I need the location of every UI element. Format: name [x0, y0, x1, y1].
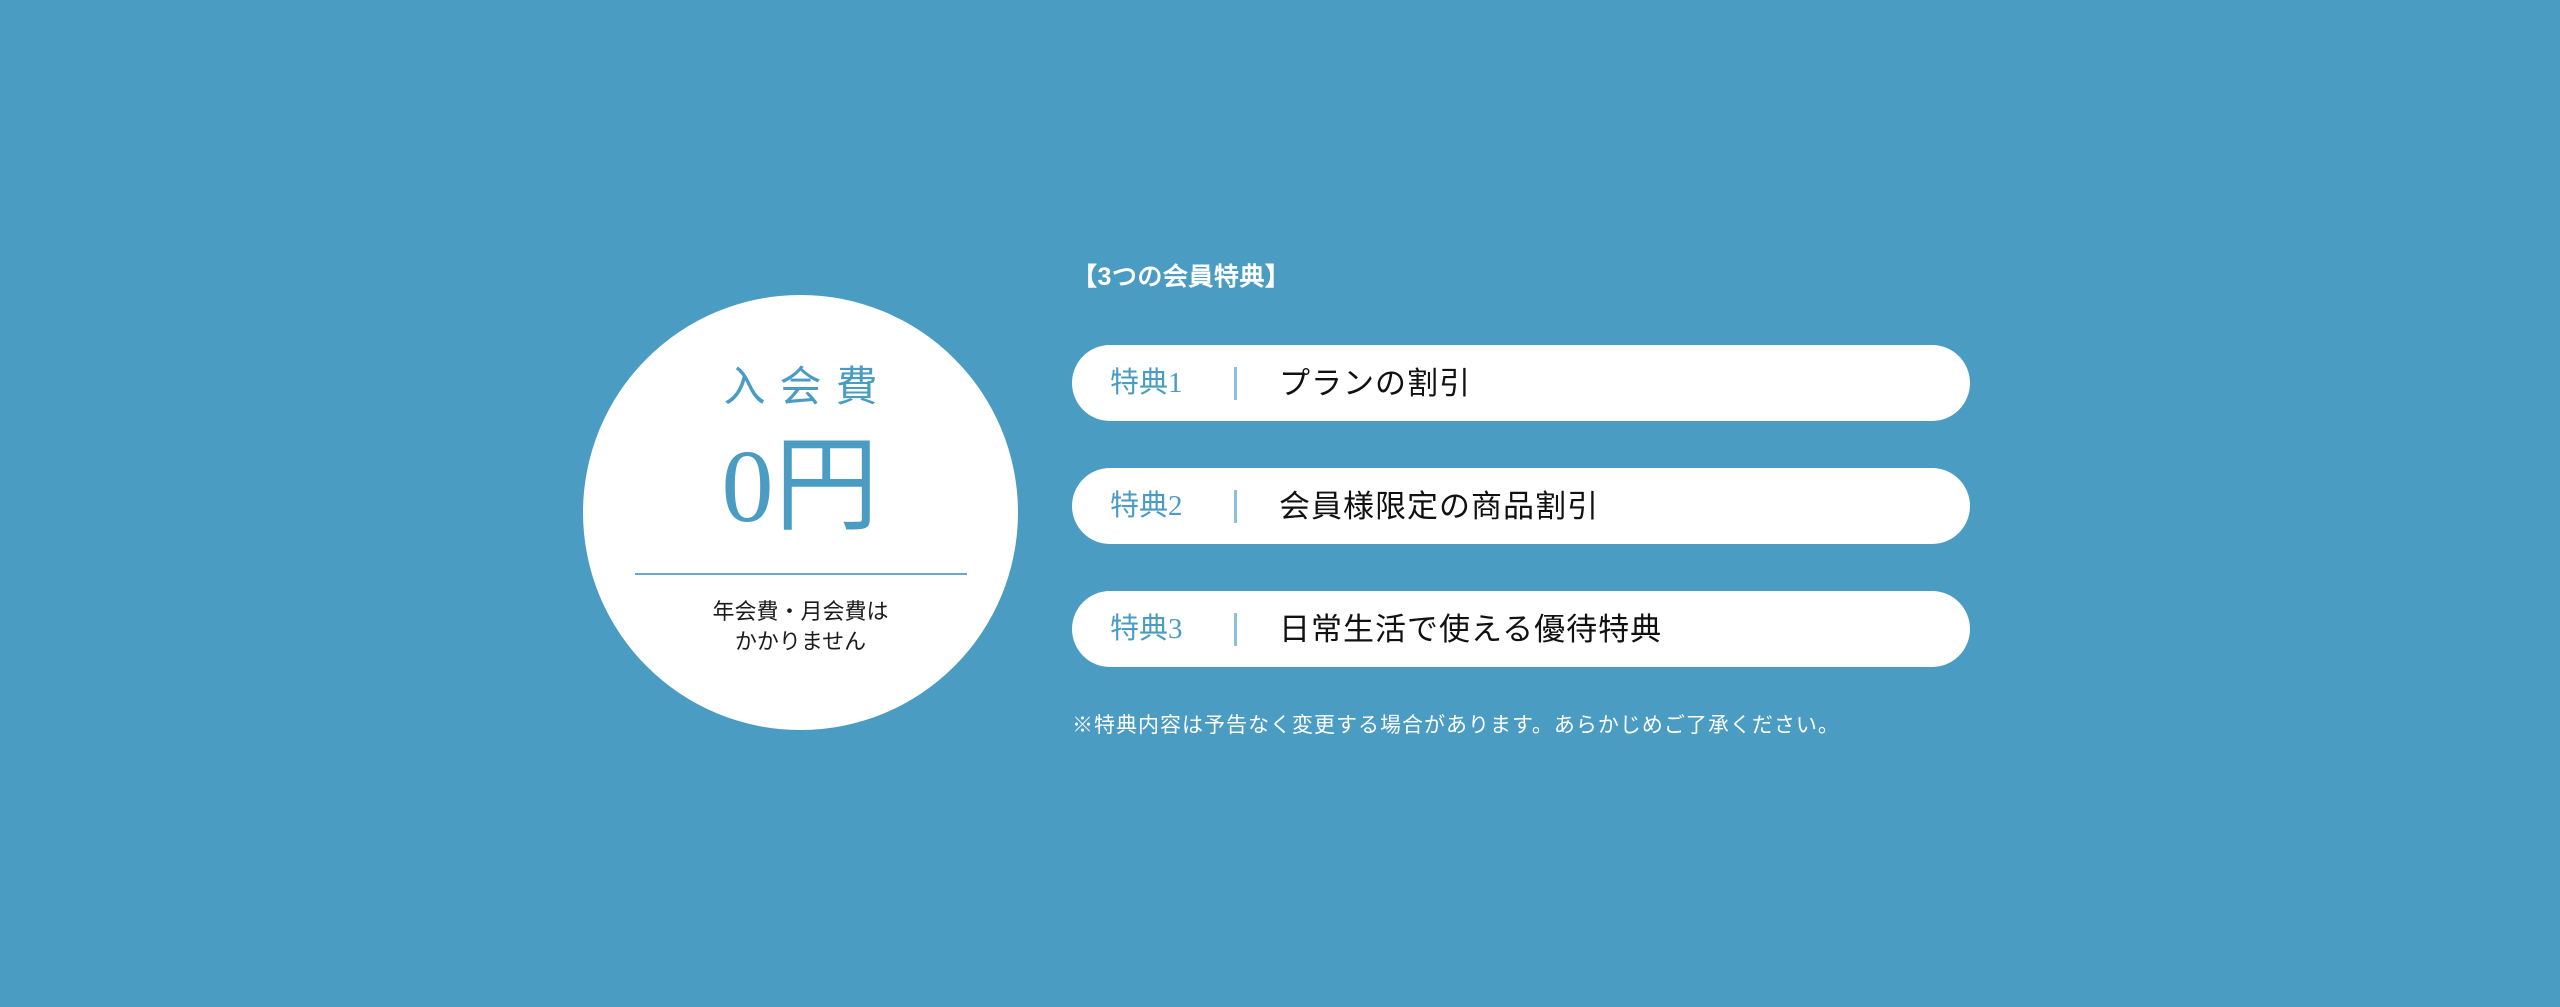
- benefit-text: プランの割引: [1279, 368, 1471, 399]
- benefit-index-label: 特典2: [1110, 492, 1196, 521]
- badge-amount: 0円: [721, 435, 879, 539]
- benefit-index-label: 特典3: [1110, 615, 1196, 644]
- page-root: 入会費 0円 年会費・月会費は かかりません 【3つの会員特典】 特典1 プラン…: [0, 0, 2560, 1007]
- benefit-divider-icon: [1234, 490, 1237, 523]
- benefit-row[interactable]: 特典3 日常生活で使える優待特典: [1072, 591, 1970, 667]
- benefits-list: 特典1 プランの割引 特典2 会員様限定の商品割引 特典3 日常生活で使える優待…: [1072, 345, 1982, 667]
- badge-note-line-2: かかりません: [712, 627, 888, 657]
- benefit-row[interactable]: 特典2 会員様限定の商品割引: [1072, 468, 1970, 544]
- benefit-row[interactable]: 特典1 プランの割引: [1072, 345, 1970, 421]
- membership-fee-badge: 入会費 0円 年会費・月会費は かかりません: [583, 295, 1018, 730]
- benefits-heading: 【3つの会員特典】: [1072, 265, 1982, 290]
- benefit-text: 会員様限定の商品割引: [1279, 491, 1599, 522]
- badge-divider: [635, 573, 967, 575]
- benefits-panel: 【3つの会員特典】 特典1 プランの割引 特典2 会員様限定の商品割引 特典3 …: [1072, 265, 1982, 736]
- benefits-footnote: ※特典内容は予告なく変更する場合があります。あらかじめご了承ください。: [1072, 715, 1982, 736]
- benefit-divider-icon: [1234, 367, 1237, 400]
- benefit-index-label: 特典1: [1110, 369, 1196, 398]
- benefit-text: 日常生活で使える優待特典: [1279, 614, 1662, 645]
- badge-note: 年会費・月会費は かかりません: [712, 597, 888, 656]
- badge-title: 入会費: [709, 367, 891, 409]
- badge-note-line-1: 年会費・月会費は: [712, 597, 888, 627]
- benefit-divider-icon: [1234, 613, 1237, 646]
